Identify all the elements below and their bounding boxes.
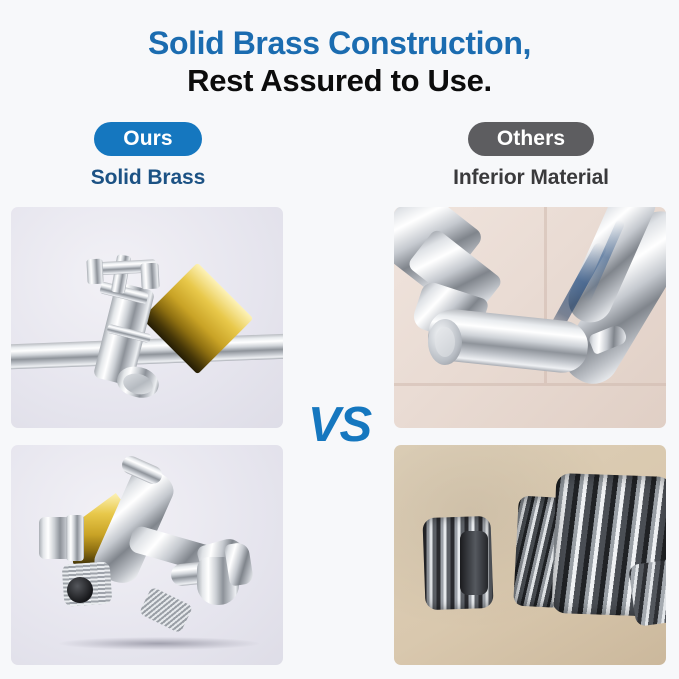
threaded-outlet-small [139, 586, 193, 633]
drop-shadow [59, 637, 259, 650]
tile-grout-line-horizontal [394, 383, 666, 386]
image-ours-diverter-valve [11, 445, 283, 665]
detached-chrome-nut-bore [460, 531, 488, 595]
comparison-infographic: Solid Brass Construction, Rest Assured t… [0, 0, 679, 679]
image-others-shower-arm [394, 207, 666, 428]
column-header-others: Others Inferior Material [391, 122, 671, 190]
page-title: Solid Brass Construction, Rest Assured t… [0, 24, 679, 100]
badge-ours: Ours [94, 122, 201, 156]
page-title-line-2: Rest Assured to Use. [0, 62, 679, 100]
versus-label: VS [287, 398, 392, 452]
badge-others: Others [468, 122, 594, 156]
cross-handle-left-wing [86, 259, 103, 285]
threaded-outlet-large-bore [67, 577, 93, 603]
subtitle-others: Inferior Material [391, 166, 671, 190]
handset-cradle-wing [224, 541, 254, 586]
column-header-ours: Ours Solid Brass [8, 122, 288, 190]
page-title-line-1: Solid Brass Construction, [0, 24, 679, 62]
subtitle-ours: Solid Brass [8, 166, 288, 190]
image-others-broken-fittings [394, 445, 666, 665]
barrel-end-cap-inner [435, 327, 455, 357]
cross-handle-right-wing [140, 263, 159, 290]
image-ours-angle-valve [11, 207, 283, 428]
inlet-shoulder [66, 515, 84, 561]
